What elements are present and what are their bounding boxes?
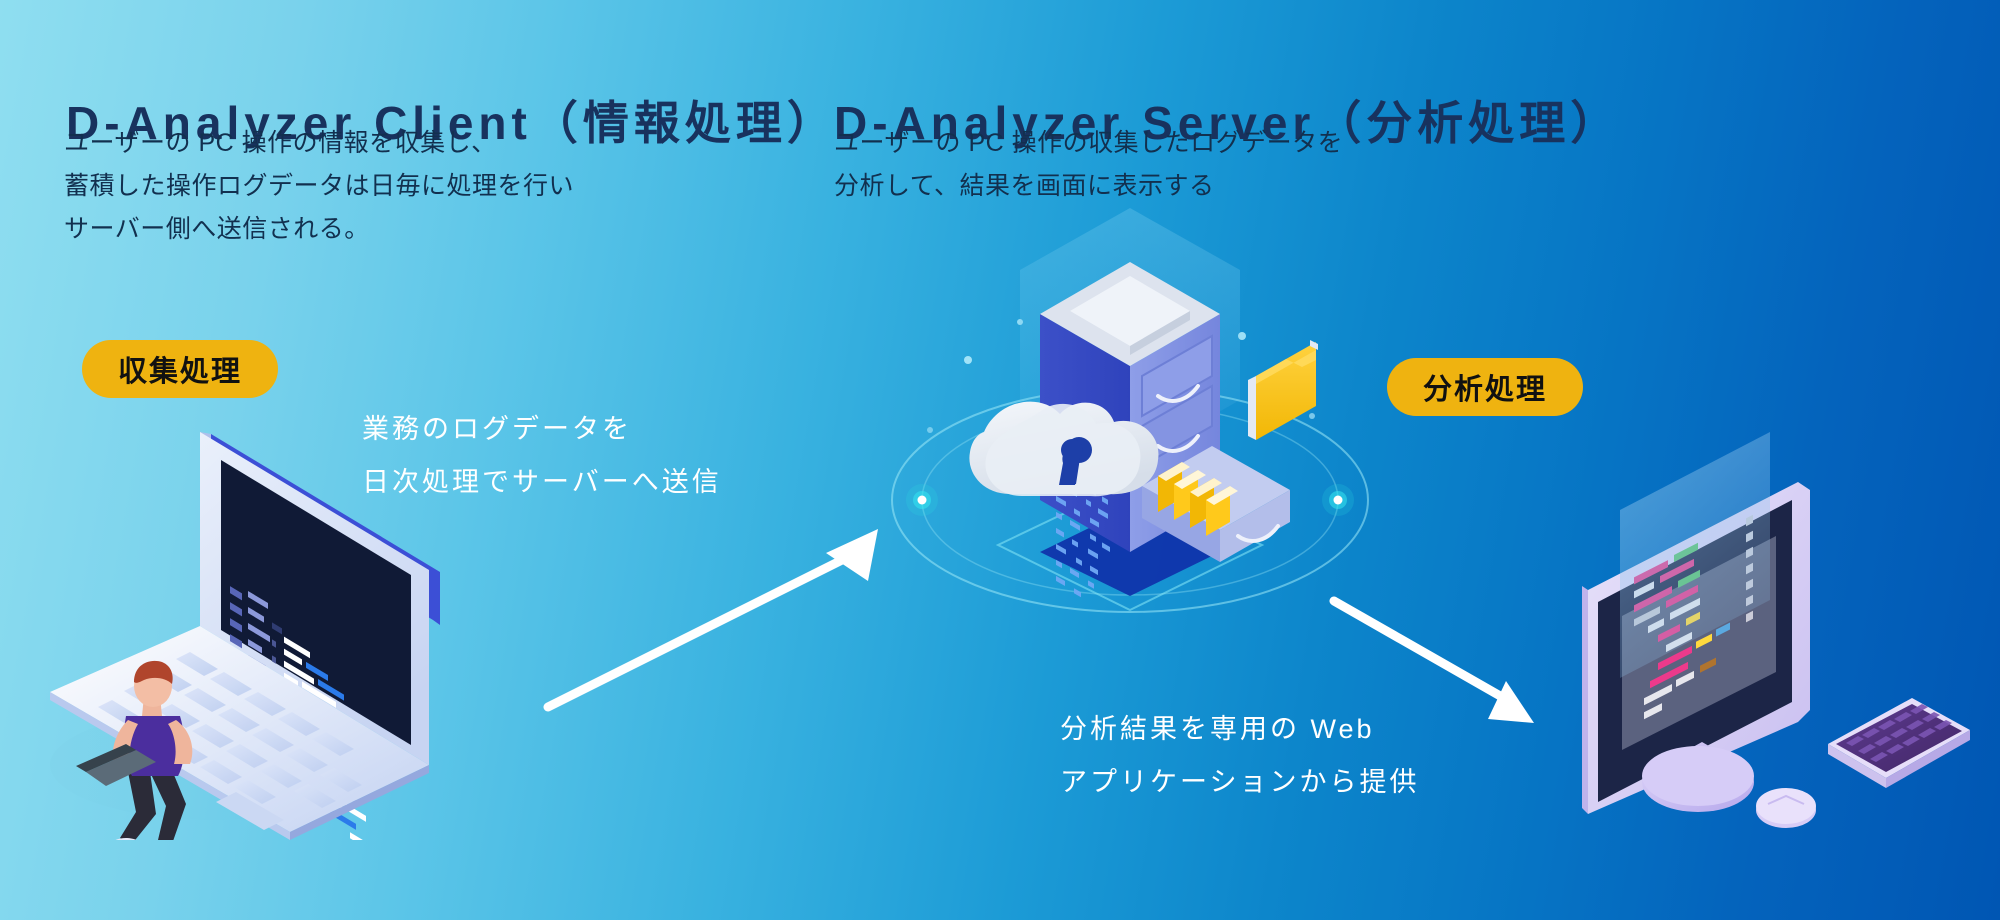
mouse [1756, 788, 1816, 828]
client-description-line-3: サーバー側へ送信される。 [64, 208, 574, 251]
arrow-client-to-server-icon [520, 515, 890, 725]
keyboard [1828, 698, 1970, 788]
flow-label-client-to-server-line-1: 業務のログデータを [362, 403, 722, 456]
client-description-line-1: ユーザーの PC 操作の情報を収集し、 [64, 122, 574, 165]
client-description-line-2: 蓄積した操作ログデータは日毎に処理を行い [64, 165, 574, 208]
flow-label-client-to-server-line-2: 日次処理でサーバーへ送信 [362, 456, 722, 509]
isometric-server-cloud-illustration [890, 200, 1370, 660]
badge-collection-process[interactable]: 収集処理 [82, 340, 278, 398]
flow-label-server-to-web: 分析結果を専用の Web アプリケーションから提供 [1060, 703, 1419, 809]
client-description: ユーザーの PC 操作の情報を収集し、 蓄積した操作ログデータは日毎に処理を行い… [64, 122, 574, 251]
server-description-line-1: ユーザーの PC 操作の収集したログデータを [834, 122, 1343, 165]
server-description: ユーザーの PC 操作の収集したログデータを 分析して、結果を画面に表示する [834, 122, 1343, 208]
diagram-canvas: D-Analyzer Client（情報処理） ユーザーの PC 操作の情報を収… [0, 0, 2000, 920]
flow-label-client-to-server: 業務のログデータを 日次処理でサーバーへ送信 [362, 403, 722, 509]
flow-label-server-to-web-line-1: 分析結果を専用の Web [1060, 703, 1419, 756]
flow-label-server-to-web-line-2: アプリケーションから提供 [1060, 756, 1419, 809]
badge-analysis-process[interactable]: 分析処理 [1387, 358, 1583, 416]
isometric-desktop-illustration [1570, 410, 2000, 830]
